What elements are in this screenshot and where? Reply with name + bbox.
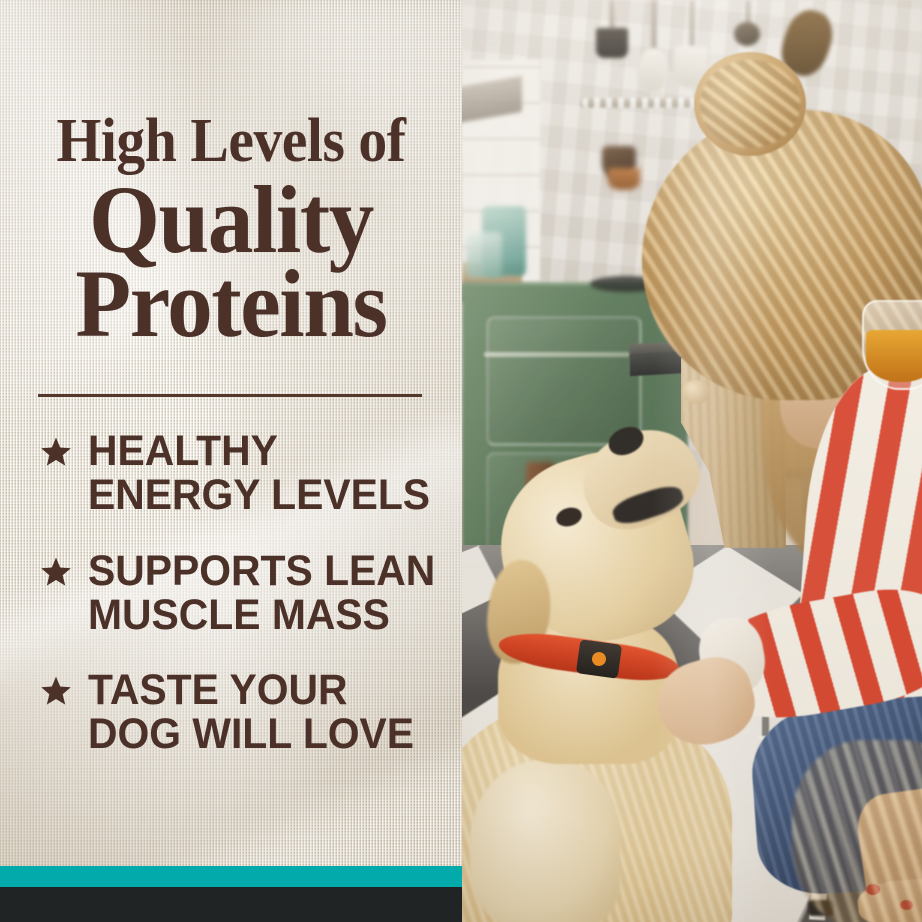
utensil-cord — [690, 0, 694, 48]
product-feature-poster: High Levels of Quality Proteins HEALTHY … — [0, 0, 922, 922]
woman-hair-ends — [792, 740, 922, 922]
table-knob — [682, 380, 710, 404]
headline-line-3: Proteins — [12, 258, 451, 350]
star-icon — [40, 436, 72, 468]
headline: High Levels of Quality Proteins — [0, 112, 462, 350]
oven-handle — [484, 352, 630, 357]
star-icon — [40, 556, 72, 588]
oven-door-upper — [486, 316, 642, 446]
utensil-cord — [652, 0, 656, 50]
benefits-list: HEALTHY ENERGY LEVELS SUPPORTS LEAN MUSC… — [0, 430, 462, 757]
list-item-label: HEALTHY ENERGY LEVELS — [88, 430, 443, 518]
hanging-scoop-icon — [596, 28, 628, 58]
left-text-panel: High Levels of Quality Proteins HEALTHY … — [0, 0, 462, 922]
headline-line-1: High Levels of — [16, 112, 446, 172]
hanging-copper-pot-base — [608, 168, 640, 190]
star-icon — [40, 675, 72, 707]
list-item: SUPPORTS LEAN MUSCLE MASS — [0, 550, 462, 638]
hanging-brush-icon — [734, 22, 760, 46]
utensil-cord — [610, 0, 614, 30]
dog-chest — [470, 760, 620, 922]
hanging-spoon-icon — [638, 48, 668, 92]
left-panel-content: High Levels of Quality Proteins HEALTHY … — [0, 0, 462, 866]
iced-tea-liquid — [866, 330, 922, 382]
white-jar — [466, 232, 502, 278]
list-item: HEALTHY ENERGY LEVELS — [0, 430, 462, 518]
list-item: TASTE YOUR DOG WILL LOVE — [0, 669, 462, 757]
lifestyle-photo — [462, 0, 922, 922]
list-item-label: TASTE YOUR DOG WILL LOVE — [88, 669, 443, 757]
dark-footer-bar — [0, 887, 462, 922]
woman-hair-bun-swirl — [700, 60, 800, 148]
teal-accent-bar — [0, 866, 462, 887]
divider-rule — [38, 394, 422, 397]
list-item-label: SUPPORTS LEAN MUSCLE MASS — [88, 550, 443, 638]
